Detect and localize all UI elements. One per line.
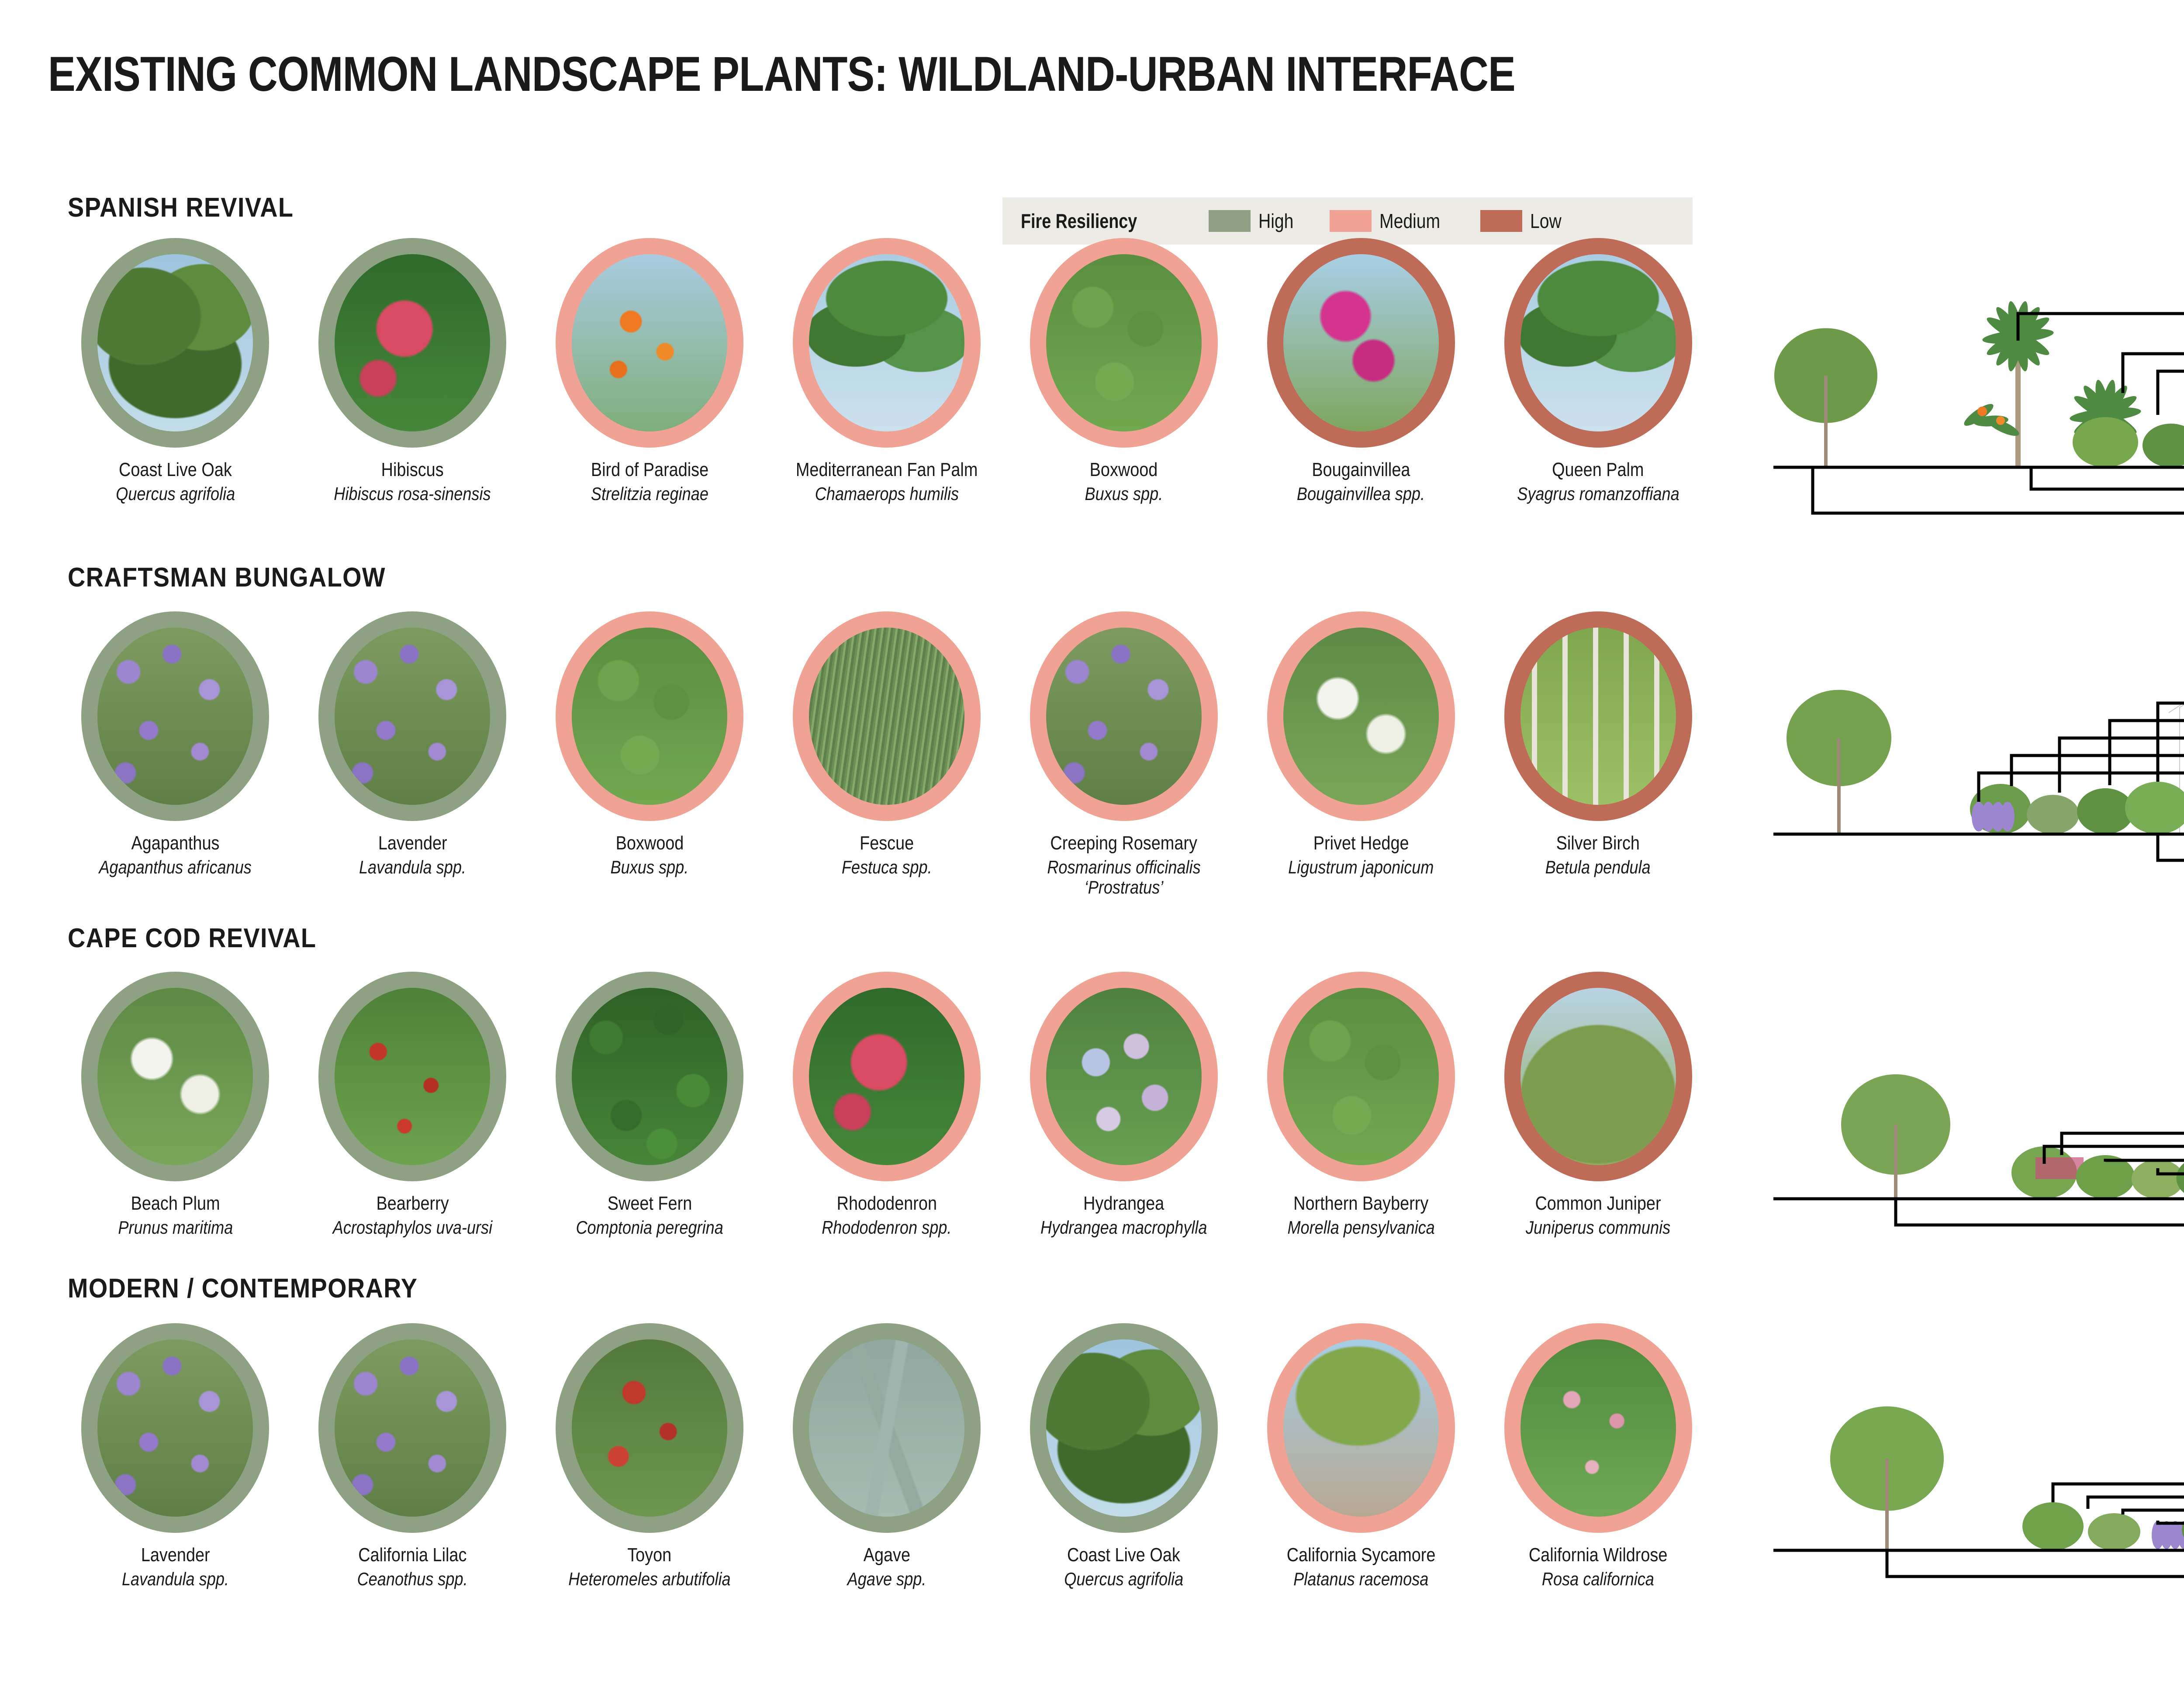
plant-common-name: Agapanthus (131, 832, 219, 854)
plant-photo-texture (97, 1339, 253, 1517)
plant-photo-texture (572, 628, 727, 805)
plant-scientific-name: Hydrangea macrophylla (1040, 1218, 1207, 1238)
plant-common-name: Bird of Paradise (591, 459, 708, 480)
plant-card-northern-bayberry[interactable]: Northern BayberryMorella pensylvanica (1242, 972, 1479, 1238)
resiliency-ring-high (318, 238, 506, 448)
plant-scientific-name: Strelitzia reginae (591, 484, 708, 504)
plant-photo-texture (1521, 254, 1676, 431)
plant-photo (809, 254, 964, 431)
plant-photo (335, 988, 490, 1165)
legend-title: Fire Resiliency (1021, 209, 1175, 233)
plant-photo (335, 1339, 490, 1517)
plant-card-california-wildrose[interactable]: California WildroseRosa californica (1479, 1323, 1717, 1589)
resiliency-ring-low (1504, 611, 1692, 821)
resiliency-ring-low (1504, 972, 1692, 1181)
plant-photo (1283, 628, 1439, 805)
plant-photo (572, 988, 727, 1165)
plant-scientific-name: Quercus agrifolia (116, 484, 235, 504)
plant-photo-texture (335, 628, 490, 805)
resiliency-ring-medium (793, 972, 981, 1181)
plant-photo (1521, 254, 1676, 431)
plant-photo-texture (97, 254, 253, 431)
plant-photo-texture (1046, 1339, 1202, 1517)
plant-card-beach-plum[interactable]: Beach PlumPrunus maritima (57, 972, 294, 1238)
plant-photo (1283, 1339, 1439, 1517)
plant-common-name: Hydrangea (1083, 1193, 1164, 1214)
plant-card-rhododenron[interactable]: RhododenronRhododenron spp. (768, 972, 1006, 1238)
elevation-svg (1773, 555, 2184, 904)
resiliency-ring-high (81, 1323, 269, 1533)
plant-photo (1521, 1339, 1676, 1517)
plant-photo (572, 1339, 727, 1517)
resiliency-ring-medium (1267, 972, 1455, 1181)
plant-photo-texture (809, 628, 964, 805)
plant-card-toyon[interactable]: ToyonHeteromeles arbutifolia (531, 1323, 768, 1589)
plant-photo-texture (572, 254, 727, 431)
plant-photo (809, 1339, 964, 1517)
plant-common-name: Creeping Rosemary (1051, 832, 1198, 854)
plant-common-name: Agave (863, 1544, 910, 1566)
plant-photo (97, 628, 253, 805)
infographic-page: EXISTING COMMON LANDSCAPE PLANTS: WILDLA… (0, 0, 2184, 1687)
elevation-diagram-cape-cod-revival (1773, 919, 2184, 1269)
plant-photo (1283, 254, 1439, 431)
plant-photo-texture (1521, 628, 1676, 805)
plant-photo (572, 628, 727, 805)
plant-scientific-name: Comptonia peregrina (576, 1218, 723, 1238)
resiliency-ring-high (81, 972, 269, 1181)
plant-common-name: Hibiscus (381, 459, 444, 480)
plant-photo-texture (809, 254, 964, 431)
plant-scientific-name: Agave spp. (847, 1569, 926, 1589)
plant-card-california-sycamore[interactable]: California SycamorePlatanus racemosa (1242, 1323, 1479, 1589)
plant-photo (1046, 628, 1202, 805)
plant-photo-texture (1283, 628, 1439, 805)
plant-scientific-name: Platanus racemosa (1293, 1569, 1428, 1589)
resiliency-ring-medium (1267, 611, 1455, 821)
resiliency-ring-high (318, 611, 506, 821)
plant-scientific-name: Rosmarinus officinalis ‘Prostratus’ (1045, 857, 1203, 897)
plant-photo-texture (809, 1339, 964, 1517)
resiliency-ring-high (81, 238, 269, 448)
plant-scientific-name: Hibiscus rosa-sinensis (334, 484, 491, 504)
resiliency-ring-medium (1030, 611, 1218, 821)
plant-common-name: Toyon (628, 1544, 672, 1566)
plant-photo (1521, 628, 1676, 805)
plant-card-agave[interactable]: AgaveAgave spp. (768, 1323, 1006, 1589)
legend-label-high: High (1258, 209, 1293, 233)
plant-card-coast-live-oak[interactable]: Coast Live OakQuercus agrifolia (1005, 1323, 1242, 1589)
plant-scientific-name: Festuca spp. (842, 857, 932, 877)
plant-scientific-name: Syagrus romanzoffiana (1517, 484, 1679, 504)
plant-common-name: Fescue (860, 832, 914, 854)
plant-photo (97, 988, 253, 1165)
plant-card-common-juniper[interactable]: Common JuniperJuniperus communis (1479, 972, 1717, 1238)
plant-photo (335, 254, 490, 431)
plant-common-name: Privet Hedge (1313, 832, 1409, 854)
plant-scientific-name: Rhododenron spp. (822, 1218, 951, 1238)
elevation-diagram-spanish-revival (1773, 188, 2184, 537)
plant-photo (1521, 988, 1676, 1165)
plant-photo-texture (572, 988, 727, 1165)
legend-swatch-high (1209, 210, 1251, 232)
plant-row: LavenderLavandula spp.California LilacCe… (57, 1323, 1717, 1589)
plant-card-lavender[interactable]: LavenderLavandula spp. (57, 1323, 294, 1589)
plant-card-fescue[interactable]: FescueFestuca spp. (768, 611, 1006, 898)
plant-common-name: Bearberry (376, 1193, 449, 1214)
plant-photo (809, 988, 964, 1165)
plant-common-name: Lavender (141, 1544, 210, 1566)
plant-photo-texture (1046, 254, 1202, 431)
legend-item-high: High (1209, 209, 1300, 233)
plant-common-name: Boxwood (1090, 459, 1158, 480)
plant-card-coast-live-oak[interactable]: Coast Live OakQuercus agrifolia (57, 238, 294, 504)
plant-card-bearberry[interactable]: BearberryAcrostaphylos uva-ursi (294, 972, 531, 1238)
plant-card-boxwood[interactable]: BoxwoodBuxus spp. (1005, 238, 1242, 504)
plant-card-silver-birch[interactable]: Silver BirchBetula pendula (1479, 611, 1717, 898)
plant-common-name: Common Juniper (1535, 1193, 1661, 1214)
plant-photo-texture (97, 628, 253, 805)
plant-photo-texture (1283, 1339, 1439, 1517)
plant-card-lavender[interactable]: LavenderLavandula spp. (294, 611, 531, 898)
plant-scientific-name: Agapanthus africanus (99, 857, 252, 877)
plant-common-name: California Lilac (358, 1544, 467, 1566)
resiliency-ring-medium (793, 611, 981, 821)
plant-photo-texture (97, 988, 253, 1165)
plant-scientific-name: Ligustrum japonicum (1288, 857, 1434, 877)
plant-common-name: Northern Bayberry (1293, 1193, 1428, 1214)
plant-photo (335, 628, 490, 805)
legend-label-low: Low (1530, 209, 1562, 233)
plant-scientific-name: Buxus spp. (611, 857, 689, 877)
plant-card-queen-palm[interactable]: Queen PalmSyagrus romanzoffiana (1479, 238, 1717, 504)
plant-photo-texture (1521, 988, 1676, 1165)
plant-photo (1046, 988, 1202, 1165)
section-heading-craftsman-bungalow: CRAFTSMAN BUNGALOW (68, 562, 386, 593)
plant-scientific-name: Acrostaphylos uva-ursi (333, 1218, 492, 1238)
plant-row: AgapanthusAgapanthus africanusLavenderLa… (57, 611, 1717, 898)
elevation-svg (1773, 1271, 2184, 1620)
plant-card-sweet-fern[interactable]: Sweet FernComptonia peregrina (531, 972, 768, 1238)
plant-common-name: Queen Palm (1552, 459, 1644, 480)
plant-photo-texture (1283, 254, 1439, 431)
plant-card-california-lilac[interactable]: California LilacCeanothus spp. (294, 1323, 531, 1589)
plant-photo-texture (572, 1339, 727, 1517)
plant-common-name: Coast Live Oak (119, 459, 232, 480)
resiliency-ring-high (1030, 1323, 1218, 1533)
resiliency-ring-medium (1504, 1323, 1692, 1533)
resiliency-ring-high (318, 972, 506, 1181)
plant-scientific-name: Rosa californica (1542, 1569, 1654, 1589)
section-heading-modern-contemporary: MODERN / CONTEMPORARY (68, 1273, 418, 1304)
resiliency-ring-medium (793, 238, 981, 448)
plant-scientific-name: Prunus maritima (118, 1218, 233, 1238)
plant-row: Coast Live OakQuercus agrifoliaHibiscusH… (57, 238, 1717, 504)
elevation-diagram-craftsman-bungalow (1773, 555, 2184, 904)
plant-common-name: Beach Plum (131, 1193, 220, 1214)
plant-photo-texture (809, 988, 964, 1165)
plant-common-name: California Wildrose (1529, 1544, 1668, 1566)
plant-scientific-name: Lavandula spp. (122, 1569, 229, 1589)
plant-scientific-name: Lavandula spp. (359, 857, 466, 877)
plant-card-bougainvillea[interactable]: BougainvilleaBougainvillea spp. (1242, 238, 1479, 504)
plant-card-mediterranean-fan-palm[interactable]: Mediterranean Fan PalmChamaerops humilis (768, 238, 1006, 504)
plant-scientific-name: Betula pendula (1545, 857, 1651, 877)
plant-common-name: California Sycamore (1286, 1544, 1435, 1566)
plant-scientific-name: Juniperus communis (1526, 1218, 1670, 1238)
resiliency-ring-high (793, 1323, 981, 1533)
plant-scientific-name: Buxus spp. (1085, 484, 1163, 504)
plant-card-hibiscus[interactable]: HibiscusHibiscus rosa-sinensis (294, 238, 531, 504)
plant-common-name: Coast Live Oak (1068, 1544, 1181, 1566)
plant-photo (97, 254, 253, 431)
resiliency-ring-high (318, 1323, 506, 1533)
resiliency-ring-medium (556, 238, 743, 448)
resiliency-ring-low (1267, 238, 1455, 448)
plant-card-privet-hedge[interactable]: Privet HedgeLigustrum japonicum (1242, 611, 1479, 898)
resiliency-ring-medium (1030, 972, 1218, 1181)
resiliency-ring-medium (1030, 238, 1218, 448)
legend-swatch-medium (1330, 210, 1372, 232)
plant-card-hydrangea[interactable]: HydrangeaHydrangea macrophylla (1005, 972, 1242, 1238)
plant-photo (1283, 988, 1439, 1165)
plant-common-name: Rhododenron (836, 1193, 936, 1214)
plant-common-name: Sweet Fern (607, 1193, 691, 1214)
resiliency-ring-medium (556, 611, 743, 821)
plant-common-name: Lavender (378, 832, 447, 854)
plant-scientific-name: Chamaerops humilis (815, 484, 958, 504)
plant-photo (1046, 254, 1202, 431)
plant-photo-texture (1046, 988, 1202, 1165)
plant-photo-texture (335, 988, 490, 1165)
resiliency-ring-high (556, 1323, 743, 1533)
plant-card-creeping-rosemary[interactable]: Creeping RosemaryRosmarinus officinalis … (1005, 611, 1242, 898)
plant-common-name: Bougainvillea (1312, 459, 1410, 480)
plant-photo (572, 254, 727, 431)
plant-card-bird-of-paradise[interactable]: Bird of ParadiseStrelitzia reginae (531, 238, 768, 504)
plant-card-boxwood[interactable]: BoxwoodBuxus spp. (531, 611, 768, 898)
plant-photo-texture (1521, 1339, 1676, 1517)
plant-common-name: Mediterranean Fan Palm (796, 459, 978, 480)
resiliency-ring-high (556, 972, 743, 1181)
legend-swatch-low (1480, 210, 1522, 232)
plant-photo-texture (1283, 988, 1439, 1165)
plant-scientific-name: Bougainvillea spp. (1297, 484, 1425, 504)
legend-item-low: Low (1480, 209, 1567, 233)
page-title: EXISTING COMMON LANDSCAPE PLANTS: WILDLA… (48, 46, 1515, 102)
plant-scientific-name: Ceanothus spp. (357, 1569, 468, 1589)
resiliency-ring-medium (1267, 1323, 1455, 1533)
elevation-svg (1773, 188, 2184, 537)
plant-photo-texture (335, 1339, 490, 1517)
section-heading-cape-cod-revival: CAPE COD REVIVAL (68, 923, 316, 954)
legend-item-medium: Medium (1330, 209, 1451, 233)
plant-photo-texture (1046, 628, 1202, 805)
elevation-svg (1773, 919, 2184, 1269)
plant-row: Beach PlumPrunus maritimaBearberryAcrost… (57, 972, 1717, 1238)
elevation-diagram-modern-contemporary (1773, 1271, 2184, 1620)
plant-scientific-name: Morella pensylvanica (1287, 1218, 1434, 1238)
section-heading-spanish-revival: SPANISH REVIVAL (68, 192, 294, 223)
resiliency-ring-low (1504, 238, 1692, 448)
fire-resiliency-legend: Fire Resiliency High Medium Low (1002, 197, 1693, 245)
plant-common-name: Silver Birch (1556, 832, 1640, 854)
plant-common-name: Boxwood (615, 832, 684, 854)
plant-photo (809, 628, 964, 805)
plant-photo (97, 1339, 253, 1517)
resiliency-ring-high (81, 611, 269, 821)
plant-photo-texture (335, 254, 490, 431)
legend-label-medium: Medium (1379, 209, 1440, 233)
plant-scientific-name: Quercus agrifolia (1064, 1569, 1183, 1589)
plant-scientific-name: Heteromeles arbutifolia (568, 1569, 730, 1589)
plant-card-agapanthus[interactable]: AgapanthusAgapanthus africanus (57, 611, 294, 898)
plant-photo (1046, 1339, 1202, 1517)
